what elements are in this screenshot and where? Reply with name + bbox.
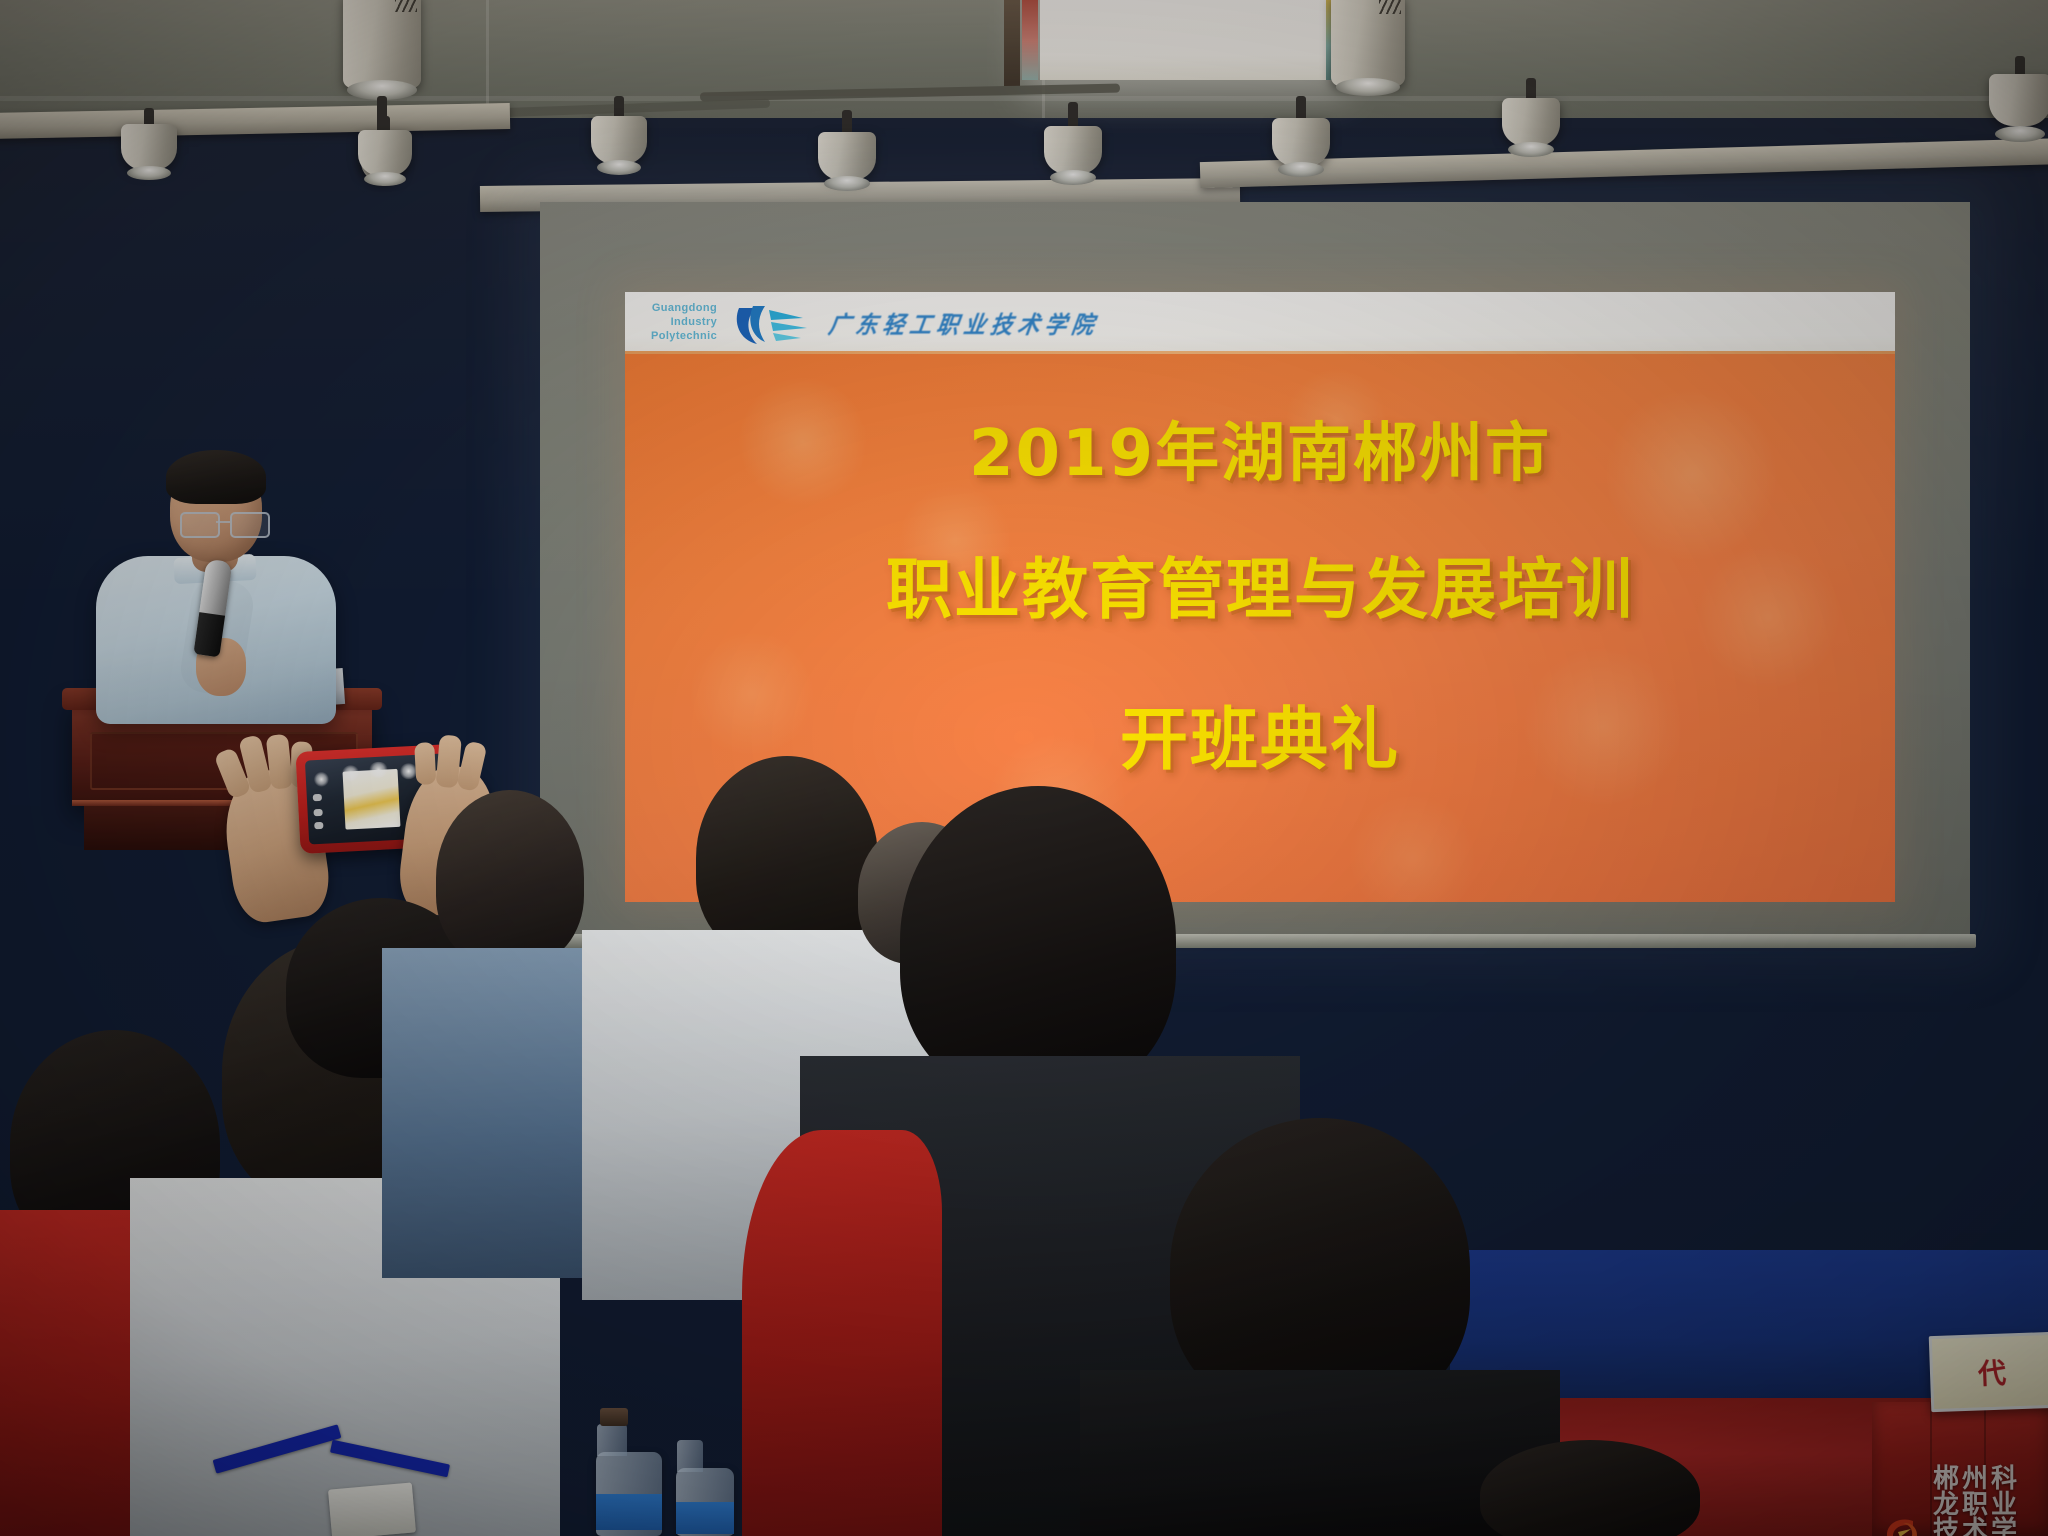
water-bottle-neck xyxy=(677,1440,703,1472)
water-bottle-cap xyxy=(600,1408,628,1426)
ceiling-panel-edge xyxy=(0,96,2048,101)
watermark-chinese: 郴州科龙职业技术学校 xyxy=(1933,1466,2048,1536)
photo-scene: Guangdong Industry Polytechnic 广东轻工职业技术学… xyxy=(0,0,2048,1536)
audience-head xyxy=(1480,1440,1700,1536)
water-bottle-neck xyxy=(597,1424,627,1456)
track-spot-light xyxy=(1328,0,1408,134)
audience-shoulders xyxy=(742,1130,942,1536)
watermark: 郴州科龙职业技术学校 CHENZHOU KELONG VOCATIONAL AN… xyxy=(1880,1466,2048,1536)
track-spot-light xyxy=(1038,102,1108,200)
kelong-swirl-icon xyxy=(1880,1512,1924,1536)
audience-head xyxy=(900,786,1176,1096)
audience-head xyxy=(436,790,584,966)
slide-title-line-2: 职业教育管理与发展培训 xyxy=(625,536,1895,632)
slide-header: Guangdong Industry Polytechnic 广东轻工职业技术学… xyxy=(625,292,1895,354)
track-spot-light xyxy=(116,108,182,194)
track-spot-light xyxy=(812,110,882,206)
window-edge-left xyxy=(1022,0,1038,80)
polytechnic-english-name: Guangdong Industry Polytechnic xyxy=(651,302,717,343)
polytechnic-chinese-name: 广东轻工职业技术学院 xyxy=(827,306,1102,341)
window-mullion xyxy=(1004,0,1020,86)
water-bottle xyxy=(676,1468,734,1536)
blue-swoosh-bird-icon xyxy=(731,298,817,348)
bright-window xyxy=(1040,0,1330,80)
track-spot-light xyxy=(1266,96,1336,192)
track-spot-light xyxy=(352,116,418,204)
delegate-name-card: 代 xyxy=(1929,1332,2048,1412)
eyeglasses-icon xyxy=(180,512,270,534)
attendee-badge xyxy=(328,1482,416,1536)
track-spot-light xyxy=(1980,56,2048,166)
water-bottle xyxy=(596,1452,662,1536)
name-card-text: 代 xyxy=(1977,1352,2006,1393)
track-spot-light xyxy=(1496,78,1566,174)
track-spot-light xyxy=(584,96,654,190)
slide-title-line-1: 2019年湖南郴州市 xyxy=(625,402,1895,494)
